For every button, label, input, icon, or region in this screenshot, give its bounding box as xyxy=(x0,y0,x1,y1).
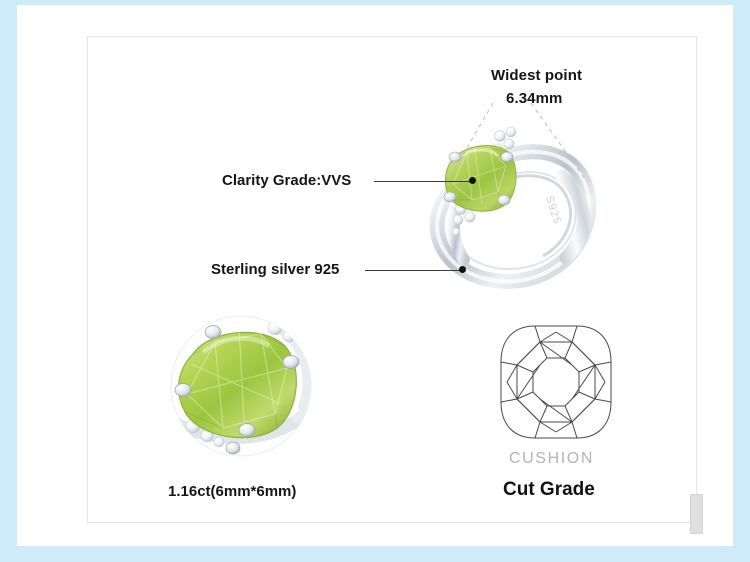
material-leader-line xyxy=(365,270,462,271)
cut-shape-name: CUSHION xyxy=(509,450,594,468)
carat-size-caption: 1.16ct(6mm*6mm) xyxy=(168,483,296,500)
widest-point-label: Widest point xyxy=(491,67,582,84)
surround-band-bottom xyxy=(0,546,750,562)
clarity-leader-line xyxy=(374,181,472,182)
surround-band-right xyxy=(733,0,750,562)
clarity-grade-label: Clarity Grade:VVS xyxy=(222,172,351,189)
product-detail-image: S925 xyxy=(0,0,750,562)
widest-point-dashed-lines xyxy=(435,101,605,181)
cushion-cut-diagram xyxy=(495,320,617,444)
scrollbar-thumb[interactable] xyxy=(690,494,703,534)
page-sheet: S925 xyxy=(17,5,733,546)
widest-point-value: 6.34mm xyxy=(506,90,562,107)
gem-closeup-illustration xyxy=(157,308,325,468)
surround-band-left xyxy=(0,0,17,562)
clarity-leader-dot xyxy=(469,177,476,184)
cut-grade-title: Cut Grade xyxy=(503,479,595,501)
material-label: Sterling silver 925 xyxy=(211,261,339,278)
material-leader-dot xyxy=(459,266,466,273)
